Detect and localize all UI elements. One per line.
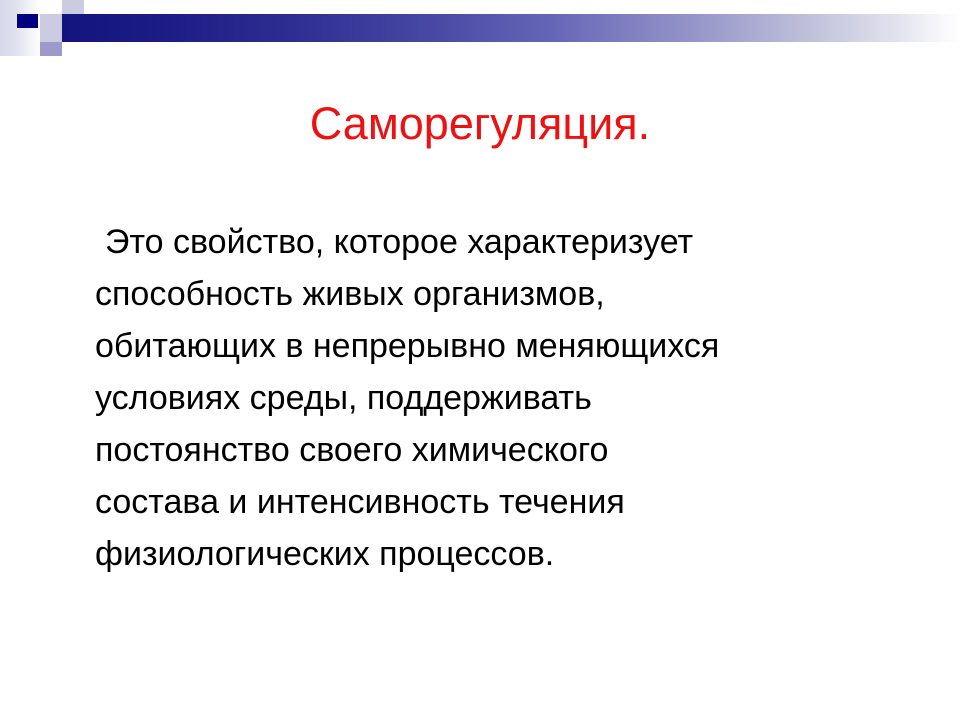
deco-square-light-2 bbox=[40, 14, 62, 28]
deco-square-mid-3 bbox=[40, 42, 62, 56]
body-line: Это свойство, которое характеризует bbox=[95, 216, 895, 268]
body-line: способность живых организмов, bbox=[95, 268, 895, 320]
body-line: состава и интенсивность течения bbox=[95, 476, 895, 528]
body-line: условиях среды, поддерживать bbox=[95, 372, 895, 424]
deco-square-navy bbox=[17, 14, 38, 28]
slide-body: Это свойство, которое характеризует спос… bbox=[95, 216, 895, 580]
left-fade-strip bbox=[0, 0, 40, 56]
slide-canvas: Саморегуляция. Это свойство, которое хар… bbox=[0, 0, 960, 720]
header-decoration bbox=[0, 0, 960, 62]
body-line: постоянство своего химического bbox=[95, 424, 895, 476]
slide-title: Саморегуляция. bbox=[0, 96, 960, 152]
header-gradient-bar bbox=[62, 14, 960, 42]
body-line: обитающих в непрерывно меняющихся bbox=[95, 320, 895, 372]
body-line: физиологических процессов. bbox=[95, 528, 895, 580]
deco-square-light-3 bbox=[40, 28, 62, 42]
deco-square-light-1 bbox=[62, 0, 84, 15]
